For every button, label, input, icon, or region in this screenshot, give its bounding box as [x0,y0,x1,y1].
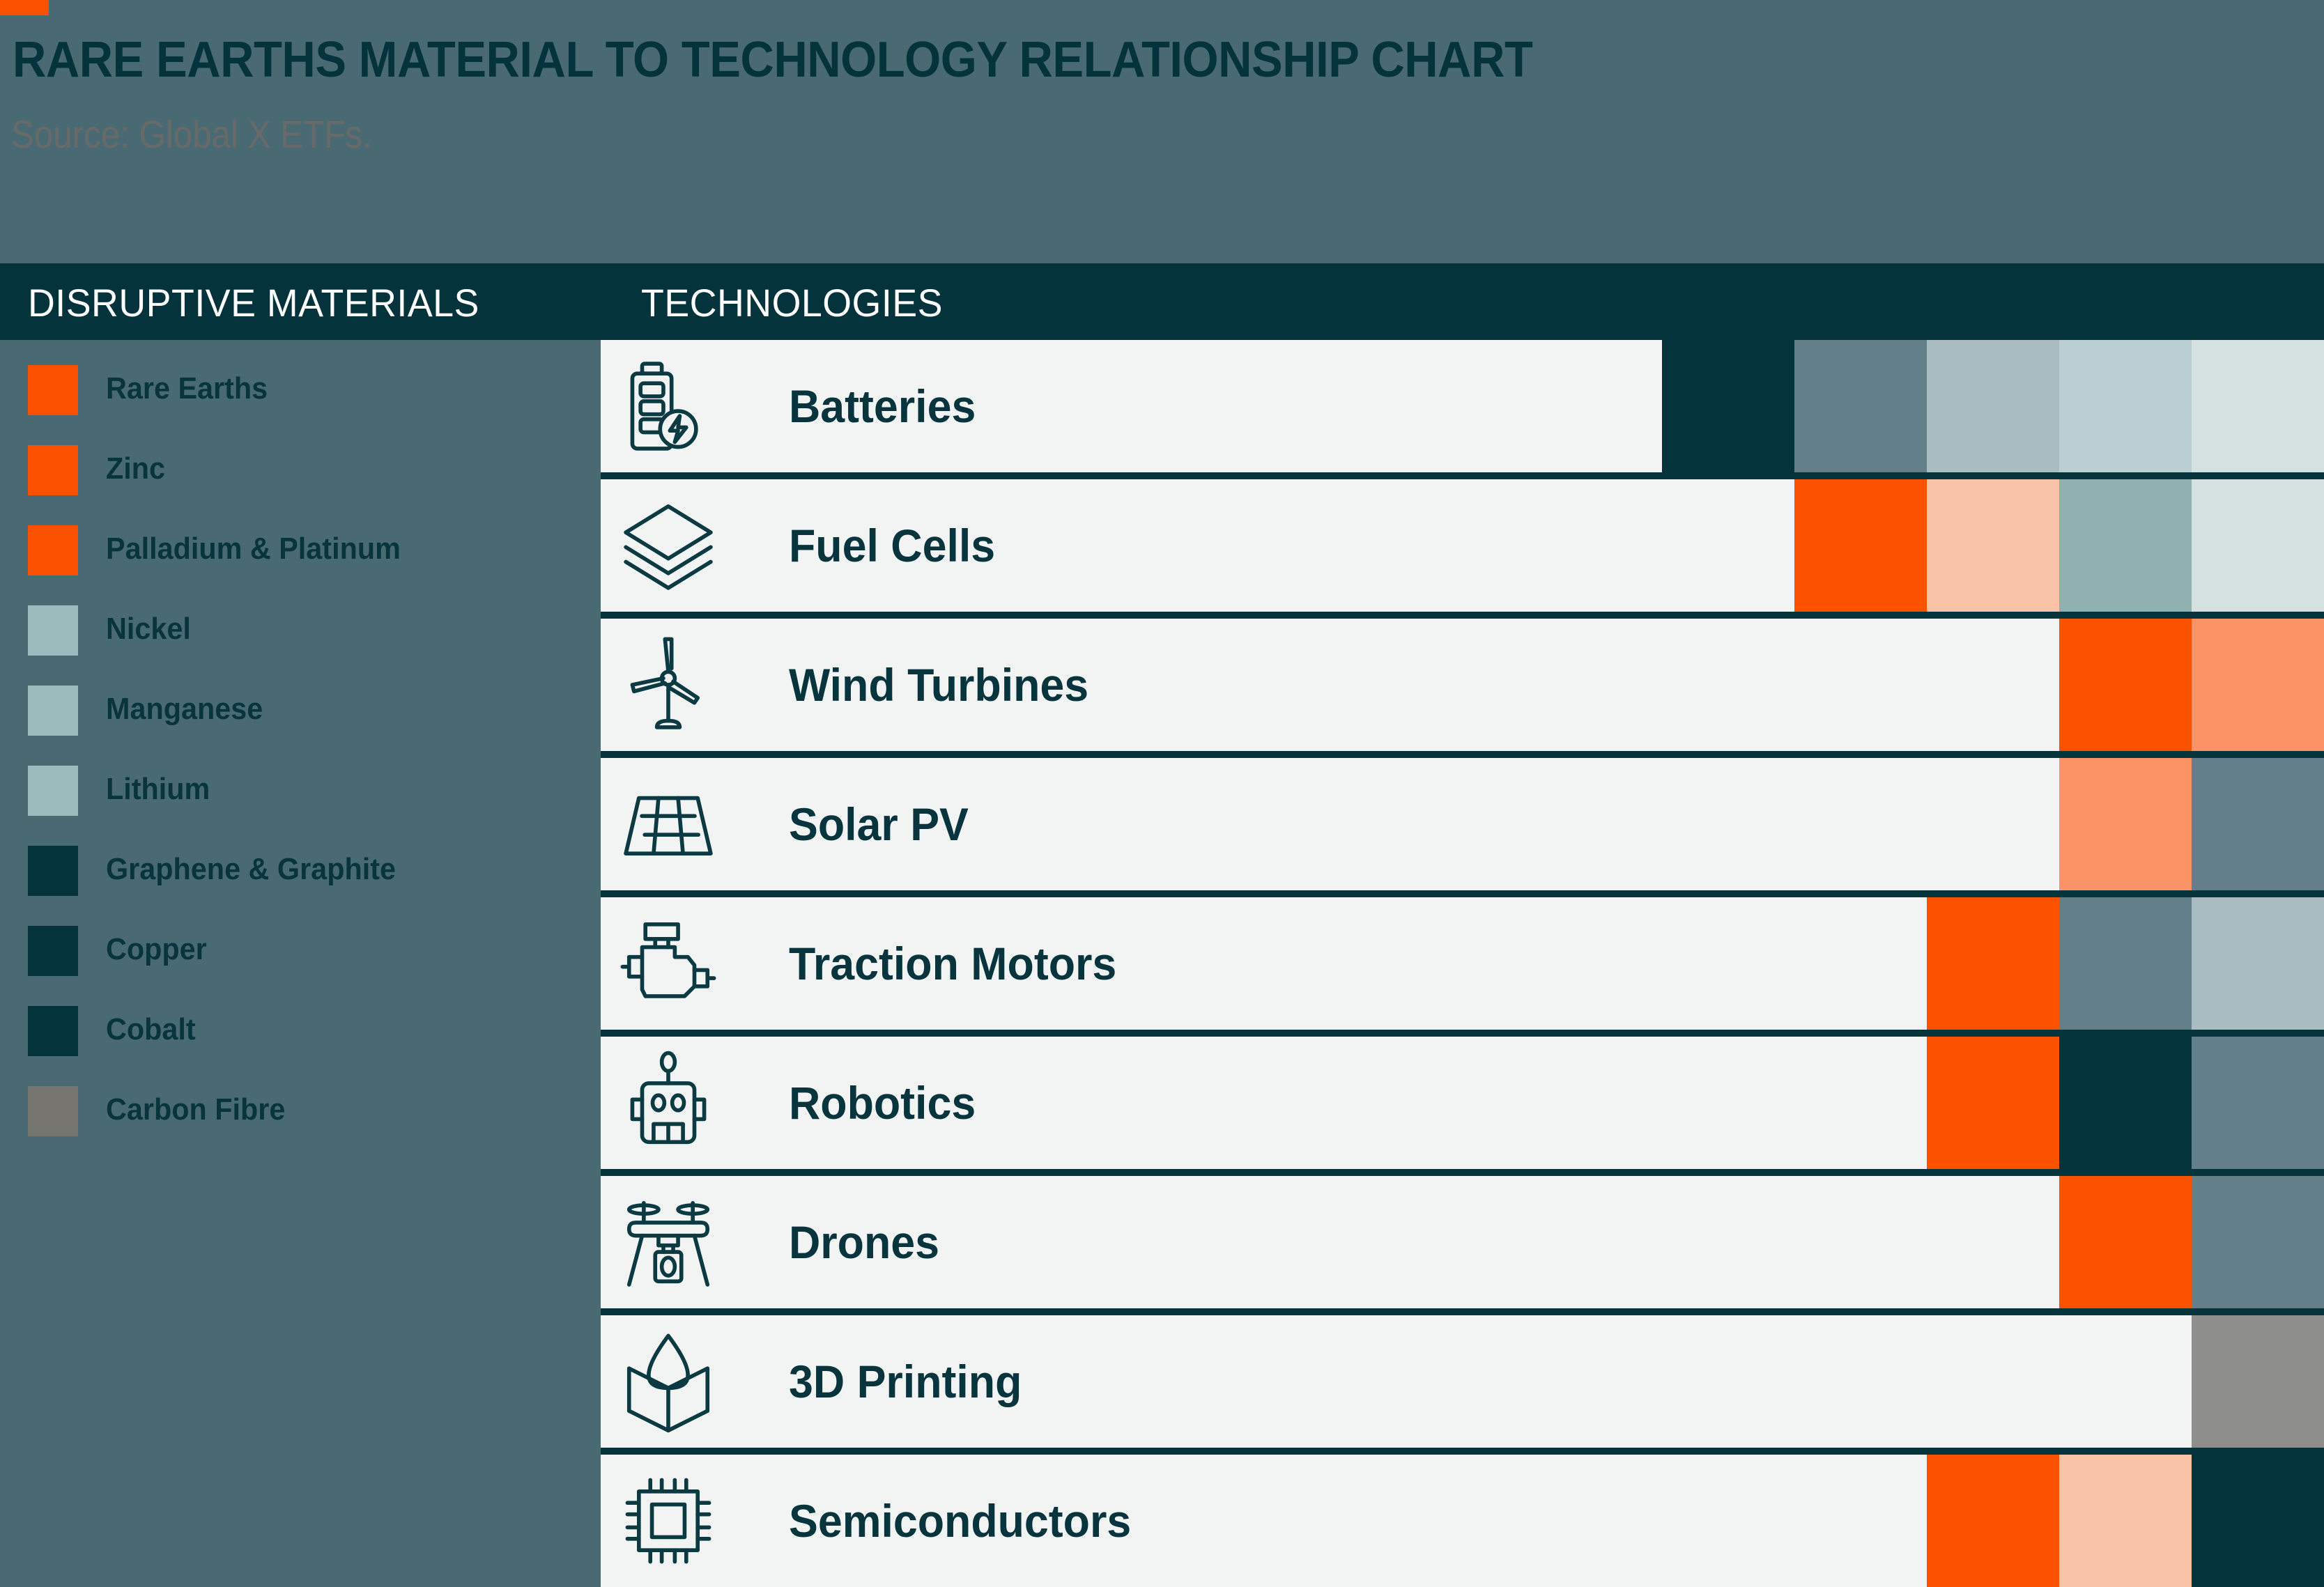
technology-label: Batteries [789,380,976,433]
technology-row[interactable]: Fuel Cells [601,479,2324,612]
technology-grid: Batteries Fuel Cells Wind Turbines Solar… [601,340,2324,1586]
solar-panel-icon [616,772,721,876]
legend-color-swatch [28,605,78,656]
motor-icon [616,911,721,1016]
source-attribution: Source: Global X ETFs. [11,111,372,157]
legend-item-label: Palladium & Platinum [106,532,401,566]
technology-label: Wind Turbines [789,658,1088,711]
material-cell[interactable] [2192,340,2324,472]
material-cell[interactable] [2192,1315,2324,1448]
legend-item-label: Zinc [106,451,165,486]
legend-color-swatch [28,846,78,896]
material-cell[interactable] [2192,758,2324,890]
material-cell[interactable] [2192,479,2324,612]
legend-color-swatch [28,1086,78,1136]
robot-icon [616,1051,721,1155]
material-cell[interactable] [2192,1176,2324,1308]
material-cell[interactable] [2192,1455,2324,1587]
technology-label: Robotics [789,1076,976,1129]
wind-turbine-icon [616,633,721,737]
legend-color-swatch [28,445,78,495]
drone-icon [616,1190,721,1294]
disruptive-materials-header: DISRUPTIVE MATERIALS [28,280,479,325]
technologies-header: TECHNOLOGIES [641,280,943,325]
material-cell[interactable] [1927,897,2059,1030]
technology-label: Traction Motors [789,937,1116,990]
legend-color-swatch [28,766,78,816]
battery-icon [616,354,721,458]
legend-color-swatch [28,1006,78,1056]
material-cell[interactable] [1927,1455,2059,1587]
technology-row[interactable]: Wind Turbines [601,619,2324,751]
page-title: RARE EARTHS MATERIAL TO TECHNOLOGY RELAT… [13,31,1532,88]
legend-color-swatch [28,365,78,415]
technology-label: Solar PV [789,798,969,851]
legend-item-label: Lithium [106,772,210,807]
technology-row[interactable]: Drones [601,1176,2324,1308]
material-cell[interactable] [2059,758,2192,890]
material-cell[interactable] [1794,340,1927,472]
technology-row[interactable]: Batteries [601,340,2324,472]
technology-row[interactable]: Solar PV [601,758,2324,890]
material-cell[interactable] [2059,619,2192,751]
material-cell[interactable] [1927,479,2059,612]
technology-row[interactable]: 3D Printing [601,1315,2324,1448]
material-cell[interactable] [2192,1037,2324,1169]
chip-icon [616,1469,721,1573]
legend-item-label: Nickel [106,612,191,647]
material-cell[interactable] [2059,897,2192,1030]
material-cell[interactable] [2059,340,2192,472]
accent-bar [0,0,49,15]
legend-item-label: Carbon Fibre [106,1092,285,1127]
technology-label: Drones [789,1216,939,1269]
legend-color-swatch [28,686,78,736]
material-cell[interactable] [1662,340,1794,472]
legend-item-label: Manganese [106,692,263,727]
legend-color-swatch [28,926,78,976]
technology-label: Semiconductors [789,1494,1131,1547]
legend-item-label: Cobalt [106,1012,196,1047]
material-cell[interactable] [2192,619,2324,751]
legend-color-swatch [28,525,78,575]
technology-label: Fuel Cells [789,519,995,572]
material-cell[interactable] [1927,340,2059,472]
technology-label: 3D Printing [789,1355,1022,1408]
layers-icon [616,493,721,598]
material-cell[interactable] [2059,1176,2192,1308]
technology-row[interactable]: Traction Motors [601,897,2324,1030]
material-cell[interactable] [2059,479,2192,612]
material-cell[interactable] [1794,479,1927,612]
material-cell[interactable] [1927,1037,2059,1169]
legend-item-label: Rare Earths [106,371,268,406]
material-cell[interactable] [2192,897,2324,1030]
legend-panel: Rare EarthsZincPalladium & PlatinumNicke… [0,340,599,1586]
3d-print-icon [616,1329,721,1434]
legend-item-label: Graphene & Graphite [106,852,396,887]
technology-row[interactable]: Robotics [601,1037,2324,1169]
material-cell[interactable] [2059,1037,2192,1169]
material-cell[interactable] [2059,1455,2192,1587]
technology-row[interactable]: Semiconductors [601,1455,2324,1587]
legend-item-label: Copper [106,932,207,967]
